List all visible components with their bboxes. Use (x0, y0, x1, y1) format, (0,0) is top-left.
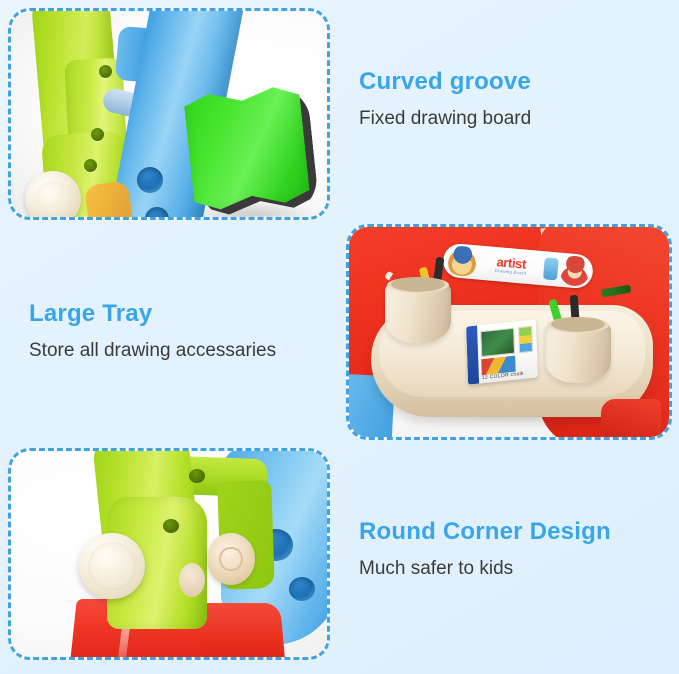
blue-dimple (137, 167, 163, 193)
chalk-box-artwork (480, 328, 515, 358)
caption-title-large-tray: Large Tray (29, 300, 276, 328)
cream-star-knob (79, 533, 145, 599)
screw-hole-icon (189, 469, 205, 483)
caption-curved-groove: Curved groove Fixed drawing board (359, 68, 531, 131)
cream-spacer (179, 563, 205, 597)
caption-round-corner: Round Corner Design Much safer to kids (359, 518, 611, 581)
eraser-green-top (183, 80, 312, 217)
marker-cup-left (385, 283, 451, 343)
red-frame-foot (601, 399, 661, 437)
curved-groove-closeup-photo (11, 11, 327, 217)
sticker-text-group: artist Drawing Board (477, 253, 544, 277)
large-tray-photo-frame: artist Drawing Board 12 COLOR chalk (346, 224, 672, 440)
screw-hole-icon (163, 519, 179, 533)
chalk-box: 12 COLOR chalk (466, 319, 538, 384)
caption-subtitle-round-corner: Much safer to kids (359, 556, 609, 582)
screw-hole-icon (91, 128, 104, 141)
caption-title-round-corner: Round Corner Design (359, 518, 611, 546)
caption-large-tray: Large Tray Store all drawing accessaries (29, 300, 276, 363)
screw-hole-icon (84, 159, 97, 172)
green-board-eraser (183, 79, 318, 217)
girl-character-icon (559, 255, 592, 288)
large-tray-closeup-photo: artist Drawing Board 12 COLOR chalk (349, 227, 669, 437)
screw-hole-icon (99, 65, 112, 78)
round-corner-closeup-photo (11, 451, 327, 657)
lion-character-icon (445, 245, 479, 278)
marker-cup-right (545, 323, 611, 383)
hand-icon (543, 257, 559, 280)
infographic-canvas: Curved groove Fixed drawing board artist… (0, 0, 679, 674)
caption-title-curved-groove: Curved groove (359, 68, 531, 96)
caption-subtitle-large-tray: Store all drawing accessaries (29, 338, 276, 364)
caption-subtitle-curved-groove: Fixed drawing board (359, 106, 531, 132)
cream-round-cap (207, 533, 255, 585)
curved-groove-photo-frame (8, 8, 330, 220)
chalk-box-spine (466, 326, 479, 385)
round-corner-photo-frame (8, 448, 330, 660)
red-base-right (196, 603, 286, 657)
chalk-color-swatches (518, 326, 533, 353)
blue-dimple (289, 577, 315, 601)
